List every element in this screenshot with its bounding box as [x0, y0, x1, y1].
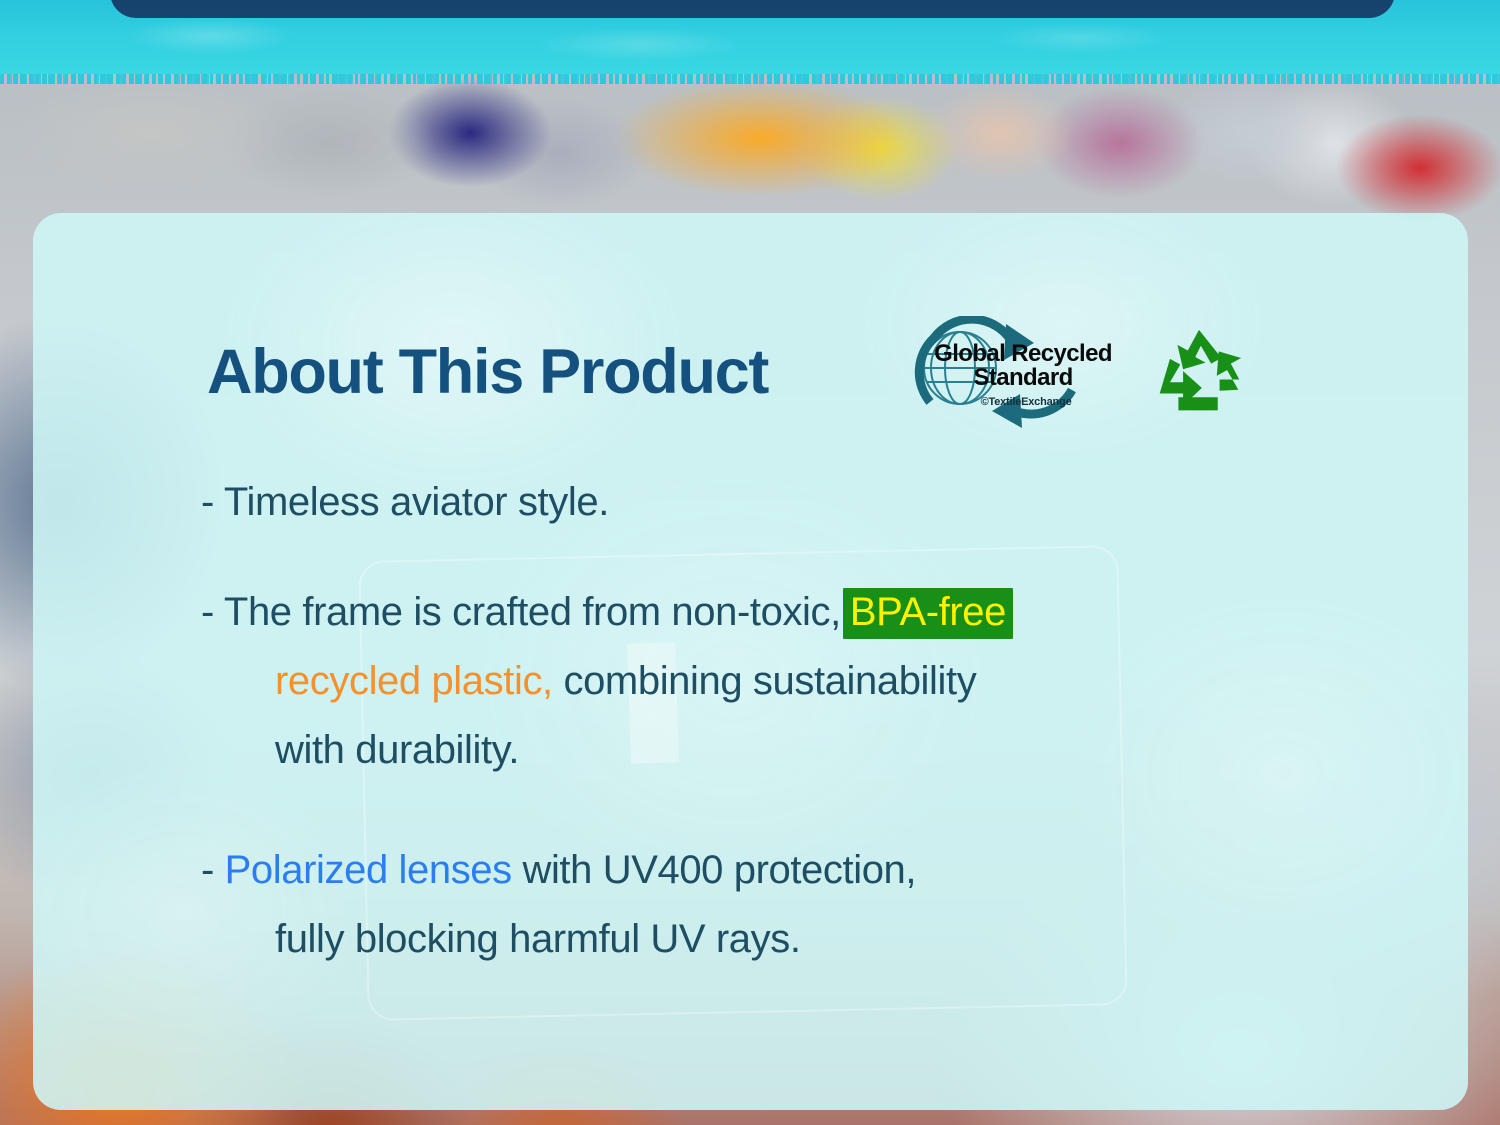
bullet-2-text-a: The frame is crafted from non-toxic,: [224, 590, 841, 634]
grs-logo: Global Recycled Standard ©TextileExchang…: [894, 316, 1112, 428]
bullet-item-1: - Timeless aviator style.: [201, 468, 1431, 537]
certification-badges: Global Recycled Standard ©TextileExchang…: [894, 316, 1246, 428]
grs-line-2: Standard: [973, 364, 1072, 391]
card-header-row: About This Product: [207, 317, 1407, 427]
top-navy-bar: [110, 0, 1395, 18]
about-product-card: About This Product: [33, 213, 1468, 1110]
grs-line-1: Global Recycled: [934, 340, 1112, 367]
bullet-2-text-b: combining sustainability: [553, 659, 977, 703]
bullet-item-2: - The frame is crafted from non-toxic,BP…: [201, 578, 1431, 785]
bullet-2-line-3: with durability.: [238, 716, 519, 785]
feature-bullet-list: - Timeless aviator style. - The frame is…: [201, 468, 1431, 974]
bullet-3-text-a: with UV400 protection,: [512, 848, 916, 892]
bullet-3-line-2: fully blocking harmful UV rays.: [238, 905, 801, 974]
recycled-plastic-text: recycled plastic,: [275, 659, 553, 703]
page-title: About This Product: [207, 341, 768, 404]
recycle-triangle-icon: [1152, 328, 1246, 416]
bullet-dash: -: [201, 848, 214, 892]
bullet-1-line-1: Timeless aviator style.: [224, 480, 609, 524]
bpa-free-highlight: BPA-free: [843, 588, 1013, 639]
bullet-item-3: - Polarized lenses with UV400 protection…: [201, 836, 1431, 974]
grs-owner-text: ©TextileExchange: [946, 396, 1106, 408]
slide-canvas: About This Product: [0, 0, 1500, 1125]
bullet-dash: -: [201, 480, 214, 524]
polarized-lenses-text: Polarized lenses: [225, 848, 512, 892]
grs-logo-text: Global Recycled Standard: [934, 342, 1112, 390]
bullet-dash: -: [201, 590, 214, 634]
